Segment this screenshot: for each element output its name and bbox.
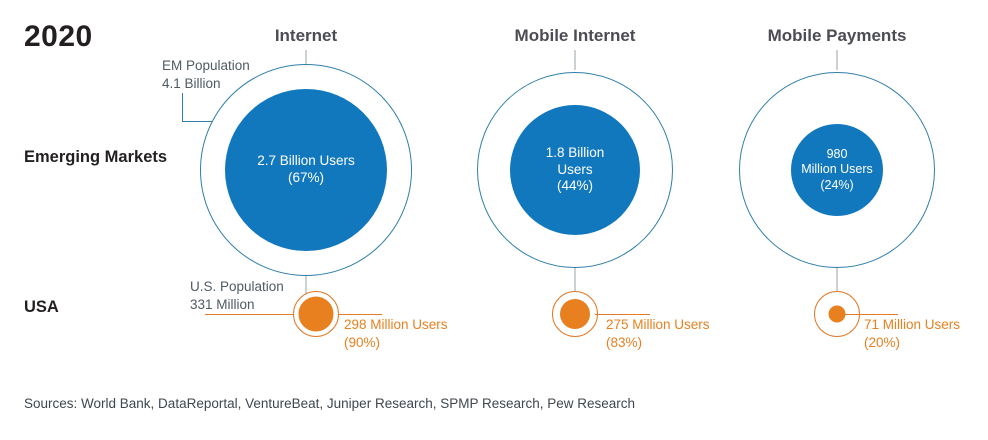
usa-bubble-mobile-payments bbox=[829, 306, 846, 323]
em-bubble-percent-mobile-internet: (44%) bbox=[557, 178, 593, 195]
em-bubble-percent-mobile-payments: (24%) bbox=[820, 178, 853, 194]
usa-leader-mobile-internet bbox=[595, 314, 650, 315]
infographic-root: 2020 Emerging Markets USA Internet Mobil… bbox=[0, 0, 988, 440]
column-header-mobile-internet: Mobile Internet bbox=[515, 26, 636, 46]
year-title: 2020 bbox=[24, 20, 93, 54]
em-bubble-mobile-internet: 1.8 Billion Users (44%) bbox=[510, 105, 640, 235]
us-population-leader-line bbox=[205, 314, 293, 315]
sources-text: Sources: World Bank, DataReportal, Ventu… bbox=[24, 396, 635, 411]
em-population-line2: 4.1 Billion bbox=[162, 76, 221, 91]
em-bubble-percent-internet: (67%) bbox=[288, 170, 324, 187]
header-tick-mobile-payments bbox=[837, 50, 838, 70]
usa-value-mobile-payments: 71 Million Users (20%) bbox=[864, 316, 960, 352]
usa-value-internet: 298 Million Users (90%) bbox=[344, 316, 448, 352]
usa-percent-internet: (90%) bbox=[344, 335, 380, 350]
row-label-usa: USA bbox=[24, 298, 59, 317]
us-population-callout: U.S. Population 331 Million bbox=[190, 278, 284, 314]
em-population-line1: EM Population bbox=[162, 58, 250, 73]
usa-bubble-internet bbox=[299, 297, 334, 332]
em-bubble-mobile-payments: 980 Million Users (24%) bbox=[791, 124, 883, 216]
header-tick-mobile-internet bbox=[575, 50, 576, 70]
usa-value-text-internet: 298 Million Users bbox=[344, 317, 448, 332]
usa-bubble-mobile-internet bbox=[560, 299, 590, 329]
em-population-callout: EM Population 4.1 Billion bbox=[162, 57, 250, 93]
em-bubble-value-mobile-payments-line1: 980 bbox=[827, 147, 848, 163]
usa-percent-mobile-internet: (83%) bbox=[606, 335, 642, 350]
usa-value-mobile-internet: 275 Million Users (83%) bbox=[606, 316, 710, 352]
us-population-line2: 331 Million bbox=[190, 297, 255, 312]
em-bubble-value-mobile-internet-line1: 1.8 Billion bbox=[546, 145, 605, 162]
em-bubble-value-internet: 2.7 Billion Users bbox=[257, 153, 355, 170]
usa-leader-internet bbox=[338, 314, 382, 315]
usa-value-text-mobile-payments: 71 Million Users bbox=[864, 317, 960, 332]
em-bubble-value-mobile-internet-line2: Users bbox=[557, 162, 592, 179]
usa-percent-mobile-payments: (20%) bbox=[864, 335, 900, 350]
us-population-line1: U.S. Population bbox=[190, 279, 284, 294]
column-header-internet: Internet bbox=[275, 26, 337, 46]
row-label-emerging-markets: Emerging Markets bbox=[24, 148, 167, 167]
usa-leader-mobile-payments bbox=[845, 314, 898, 315]
em-bubble-internet: 2.7 Billion Users (67%) bbox=[225, 89, 387, 251]
em-bubble-value-mobile-payments-line2: Million Users bbox=[801, 162, 873, 178]
em-population-leader-vertical bbox=[182, 93, 183, 122]
usa-value-text-mobile-internet: 275 Million Users bbox=[606, 317, 710, 332]
column-header-mobile-payments: Mobile Payments bbox=[768, 26, 907, 46]
